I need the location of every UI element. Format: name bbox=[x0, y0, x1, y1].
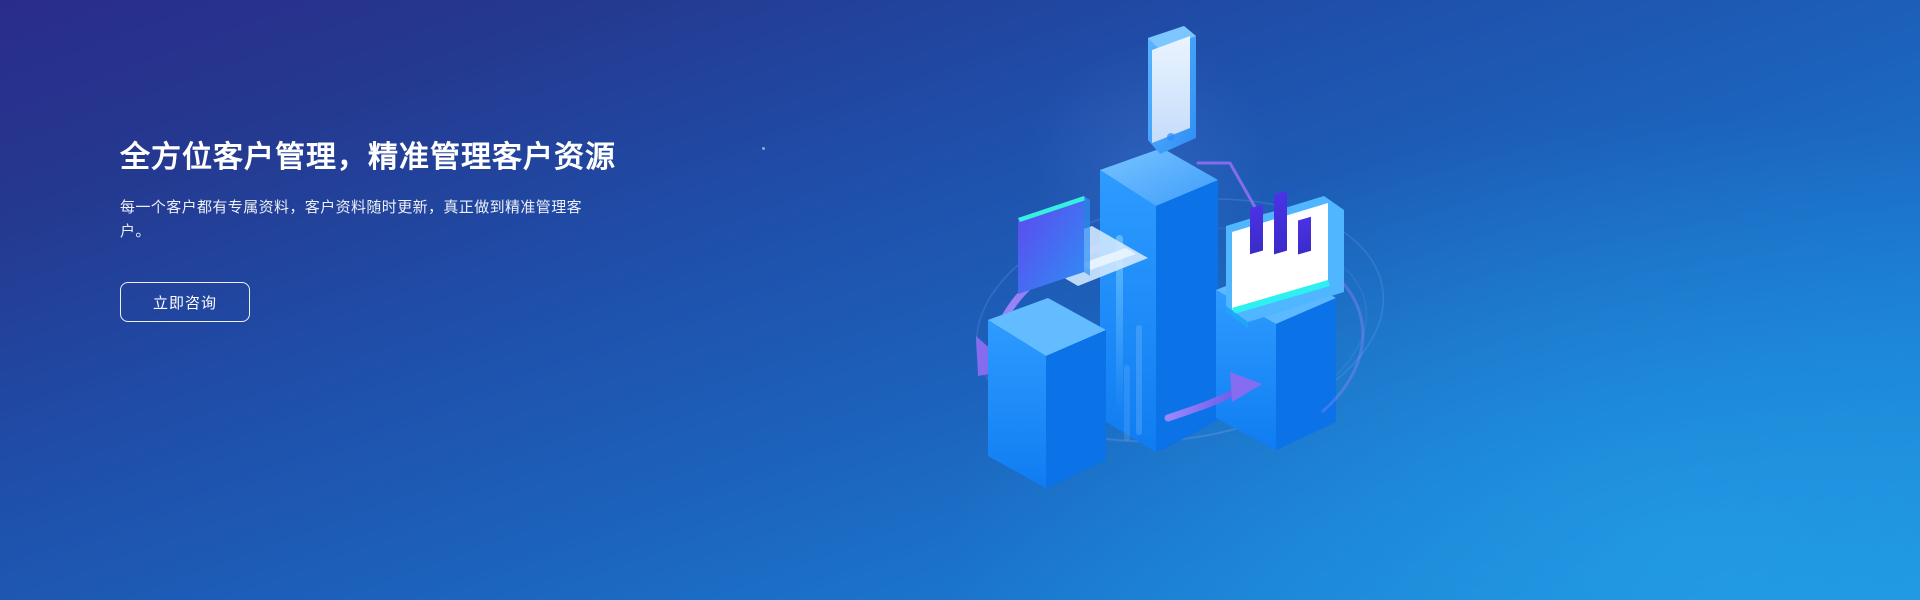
hero-copy-block: 全方位客户管理，精准管理客户资源 每一个客户都有专属资料，客户资料随时更新，真正… bbox=[120, 138, 760, 322]
pillar-left bbox=[988, 298, 1106, 488]
tablet-device bbox=[1148, 26, 1196, 154]
hero-subtitle: 每一个客户都有专属资料，客户资料随时更新，真正做到精准管理客户。 bbox=[120, 196, 600, 244]
hero-illustration bbox=[930, 20, 1430, 580]
spark-dot-icon bbox=[762, 147, 765, 150]
consult-now-button[interactable]: 立即咨询 bbox=[120, 282, 250, 322]
hero-banner: 全方位客户管理，精准管理客户资源 每一个客户都有专属资料，客户资料随时更新，真正… bbox=[0, 0, 1920, 600]
monitor-chart-bars bbox=[1250, 191, 1311, 255]
page-title: 全方位客户管理，精准管理客户资源 bbox=[120, 138, 760, 178]
